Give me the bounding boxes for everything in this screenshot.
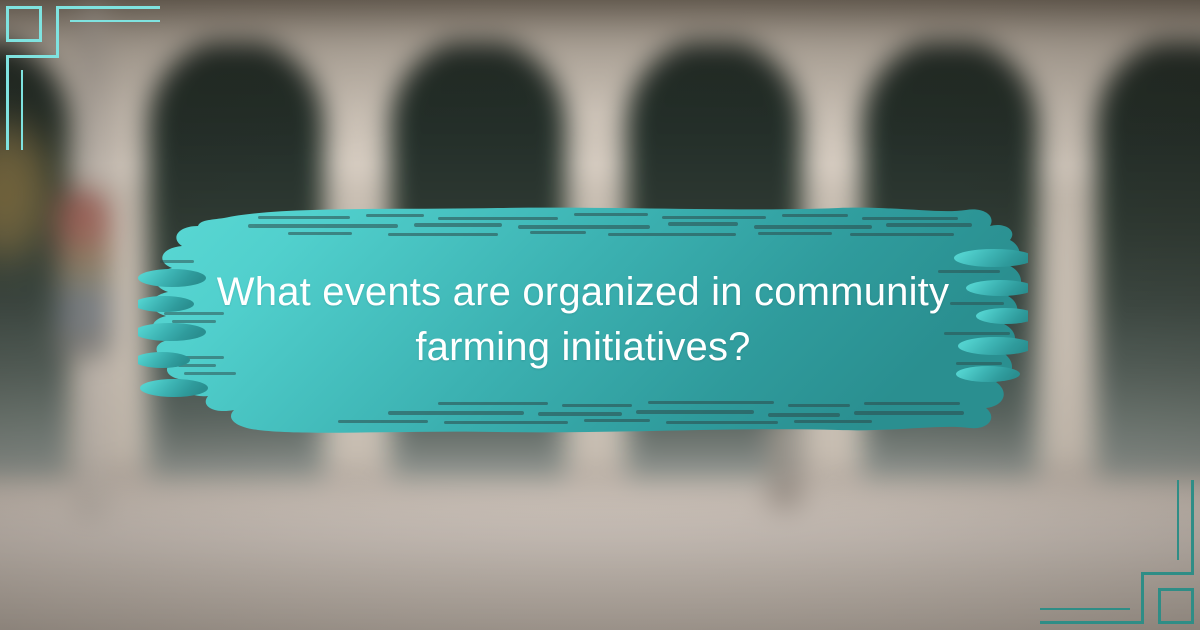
corner-bracket-bottom-right-icon <box>1040 480 1200 630</box>
headline-banner: What events are organized in community f… <box>138 196 1028 448</box>
corner-bracket-top-left-icon <box>0 0 160 150</box>
share-card: What events are organized in community f… <box>0 0 1200 630</box>
page-headline: What events are organized in community f… <box>138 196 1028 448</box>
